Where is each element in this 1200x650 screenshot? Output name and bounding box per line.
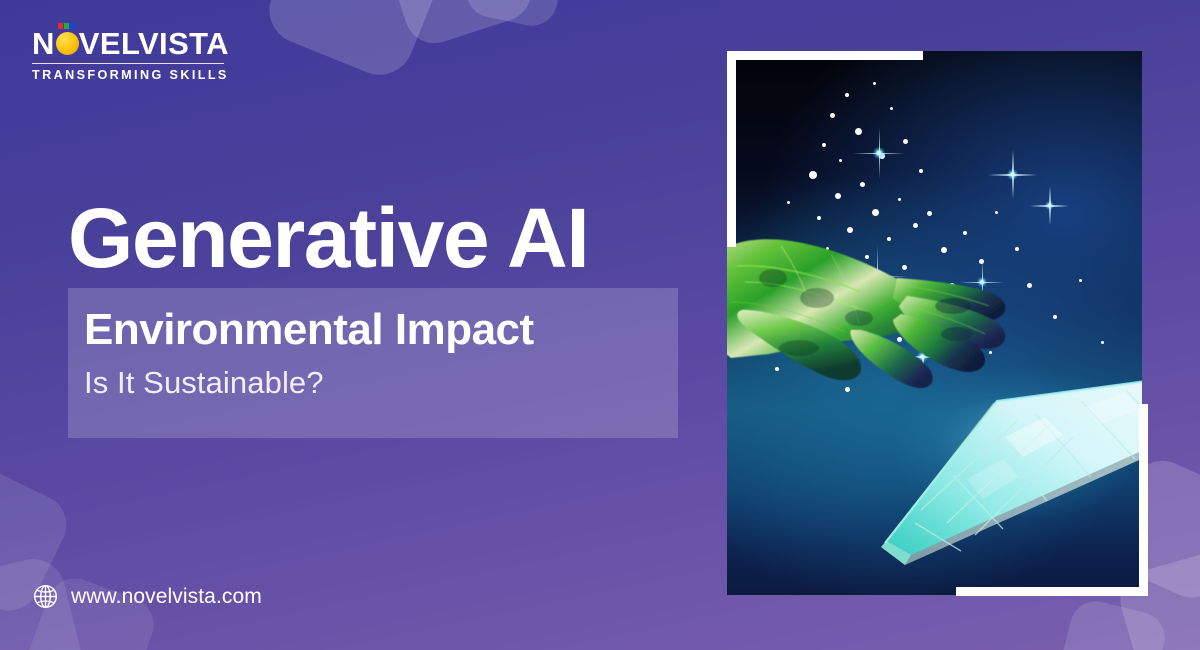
hero-image	[727, 51, 1142, 595]
hero-frame-top	[727, 51, 923, 60]
particle	[919, 169, 923, 173]
particle	[1101, 341, 1104, 344]
particle	[845, 93, 849, 97]
logo-word-lead: N	[32, 26, 55, 61]
hero-artwork	[727, 51, 1142, 595]
decorative-shape-top-1	[259, 0, 451, 85]
particle	[1079, 279, 1082, 282]
chip-green-icon	[64, 23, 69, 29]
particle	[787, 201, 790, 204]
chip-blue-icon	[70, 23, 75, 29]
page-subtitle: Environmental Impact	[84, 304, 684, 356]
logo-wordmark: NVELVISTA	[32, 28, 224, 59]
glowing-keyboard-illustration	[877, 351, 1142, 595]
particle	[830, 113, 835, 118]
sparkle-icon	[1007, 169, 1018, 180]
promo-banner: NVELVISTA TRANSFORMING SKILLS Generative…	[0, 0, 1200, 650]
globe-icon	[32, 583, 59, 610]
logo-tagline: TRANSFORMING SKILLS	[32, 68, 224, 82]
hero-frame-left	[727, 51, 736, 247]
particle	[872, 209, 879, 216]
particle	[890, 107, 893, 110]
decorative-shape-bottom-right-3	[1054, 596, 1170, 650]
particle	[860, 182, 865, 187]
particle	[903, 139, 908, 144]
decorative-shape-top-3	[461, 0, 570, 31]
page-question: Is It Sustainable?	[84, 366, 684, 400]
sparkle-icon	[1045, 201, 1054, 210]
particle	[809, 171, 817, 179]
particle	[855, 128, 862, 135]
website-url-text: www.novelvista.com	[71, 585, 262, 609]
hero-frame-right	[1139, 404, 1148, 596]
particle	[822, 143, 826, 147]
logo-divider	[32, 63, 224, 64]
logo-color-chips	[58, 23, 75, 29]
particle	[835, 193, 841, 199]
particle	[839, 159, 842, 162]
page-title: Generative AI	[68, 196, 708, 280]
subtitle-group: Environmental Impact Is It Sustainable?	[84, 304, 684, 400]
chip-red-icon	[58, 23, 63, 29]
particle	[898, 198, 901, 201]
particle	[927, 211, 932, 216]
particle	[1053, 315, 1057, 319]
logo-word-tail: VELVISTA	[79, 26, 229, 61]
particle	[873, 82, 876, 85]
hero-frame-bottom	[956, 587, 1148, 596]
logo-yellow-disc-icon	[56, 32, 79, 55]
particle	[995, 211, 998, 214]
particle	[817, 216, 821, 220]
website-url[interactable]: www.novelvista.com	[32, 583, 262, 610]
headline-group: Generative AI	[68, 196, 708, 280]
novelvista-logo[interactable]: NVELVISTA TRANSFORMING SKILLS	[32, 28, 224, 82]
sparkle-icon	[873, 147, 885, 159]
decorative-shape-top-2	[375, 0, 539, 51]
